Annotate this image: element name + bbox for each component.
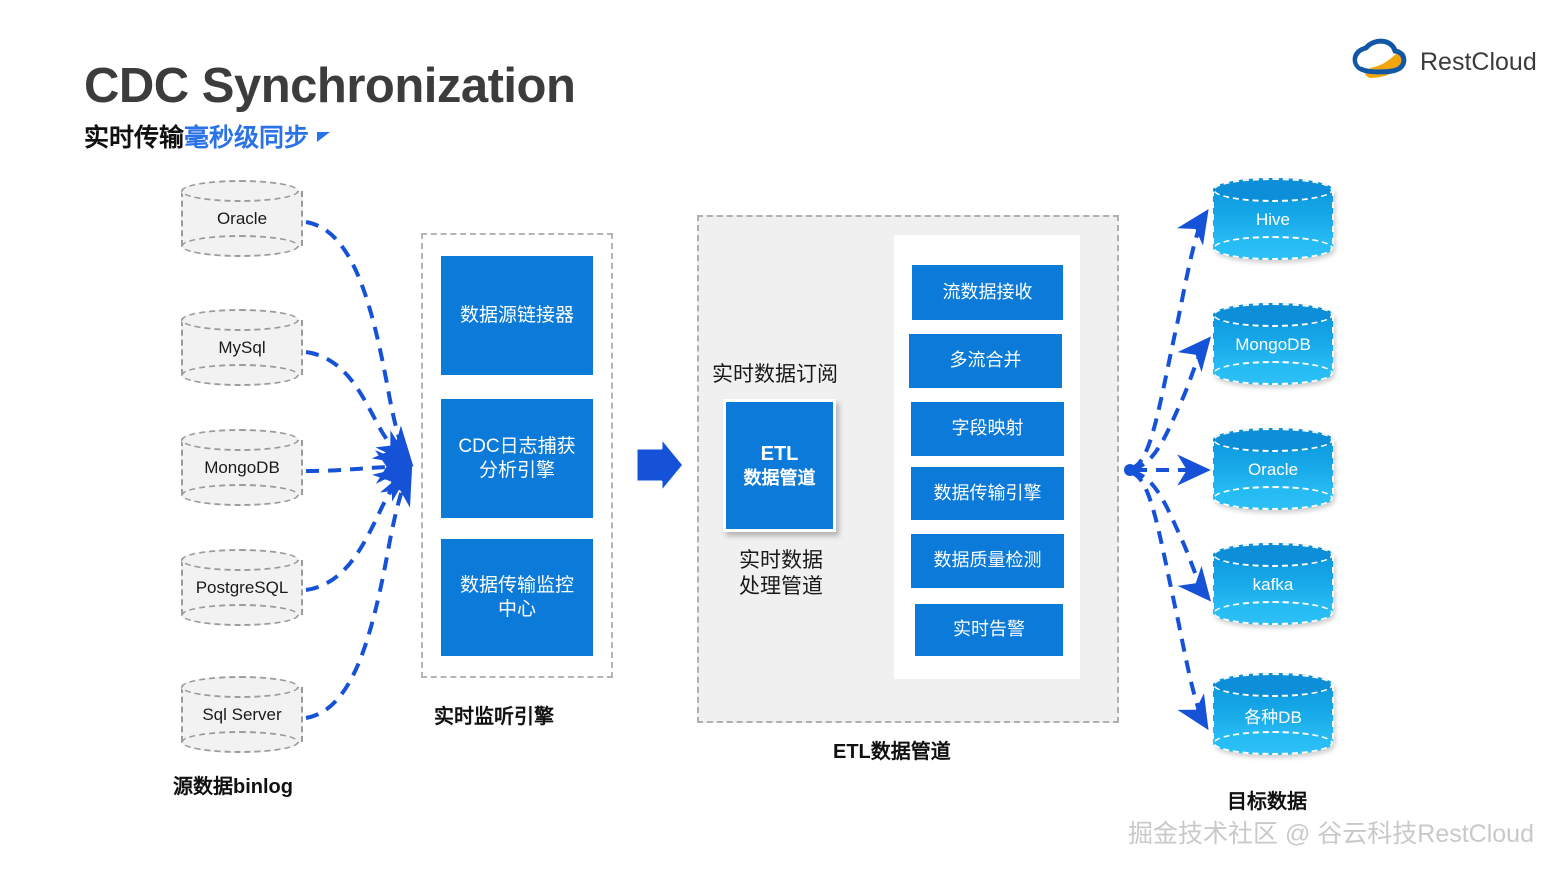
targets-caption: 目标数据 xyxy=(1227,785,1307,814)
subtitle-black-part: 实时传输 xyxy=(84,124,184,152)
etl-core-line2: 数据管道 xyxy=(744,467,816,490)
cylinder-bottom xyxy=(181,235,299,257)
listen-engine-caption: 实时监听引擎 xyxy=(434,700,554,729)
source-db-label: Sql Server xyxy=(181,698,303,732)
pipeline-step-box[interactable]: 多流合并 xyxy=(909,334,1062,388)
cylinder-top xyxy=(1213,428,1333,452)
pipeline-step-box[interactable]: 字段映射 xyxy=(911,402,1064,456)
cylinder-top xyxy=(181,309,299,331)
etl-core-box[interactable]: ETL 数据管道 xyxy=(723,399,836,532)
page-title: CDC Synchronization xyxy=(84,62,575,111)
cylinder-bottom xyxy=(181,364,299,386)
cylinder-top xyxy=(1213,178,1333,202)
pipeline-step-box[interactable]: 实时告警 xyxy=(915,604,1063,656)
cylinder-bottom xyxy=(181,604,299,626)
target-db-label: Oracle xyxy=(1213,452,1333,488)
listen-engine-box[interactable]: CDC日志捕获 分析引擎 xyxy=(441,399,593,518)
page-subtitle: 实时传输毫秒级同步 xyxy=(84,126,330,151)
sources-caption: 源数据binlog xyxy=(173,770,293,799)
target-db-cylinder[interactable]: MongoDB xyxy=(1213,303,1337,389)
cylinder-bottom xyxy=(1213,361,1333,385)
cylinder-bottom xyxy=(1213,601,1333,625)
target-db-label: Hive xyxy=(1213,202,1333,238)
target-db-cylinder[interactable]: Oracle xyxy=(1213,428,1337,514)
target-db-cylinder[interactable]: Hive xyxy=(1213,178,1337,264)
source-db-cylinder[interactable]: Oracle xyxy=(181,180,305,262)
watermark-text: 掘金技术社区 @ 谷云科技RestCloud xyxy=(1128,814,1534,850)
realtime-subscribe-label: 实时数据订阅 xyxy=(712,362,838,388)
diagram-canvas: CDC Synchronization 实时传输毫秒级同步 RestCloud xyxy=(0,0,1566,870)
source-db-label: MySql xyxy=(181,331,303,365)
target-db-label: kafka xyxy=(1213,567,1333,603)
source-db-cylinder[interactable]: MySql xyxy=(181,309,305,391)
listen-engine-box[interactable]: 数据传输监控 中心 xyxy=(441,539,593,656)
cylinder-bottom xyxy=(1213,731,1333,755)
cylinder-top xyxy=(181,180,299,202)
cylinder-bottom xyxy=(1213,486,1333,510)
pipeline-step-box[interactable]: 数据质量检测 xyxy=(911,534,1064,588)
cylinder-top xyxy=(181,429,299,451)
target-db-label: MongoDB xyxy=(1213,327,1333,363)
cloud-logo-icon xyxy=(1348,34,1418,86)
subtitle-blue-part: 毫秒级同步 xyxy=(184,124,309,152)
etl-core-line1: ETL xyxy=(761,441,799,467)
pipeline-step-box[interactable]: 数据传输引擎 xyxy=(911,467,1064,520)
brand-name: RestCloud xyxy=(1420,48,1537,77)
cylinder-bottom xyxy=(1213,236,1333,260)
listen-engine-box[interactable]: 数据源链接器 xyxy=(441,256,593,375)
source-db-cylinder[interactable]: MongoDB xyxy=(181,429,305,511)
cylinder-top xyxy=(1213,303,1333,327)
cylinder-top xyxy=(181,676,299,698)
cylinder-bottom xyxy=(181,484,299,506)
target-db-cylinder[interactable]: 各种DB xyxy=(1213,673,1337,759)
source-db-cylinder[interactable]: Sql Server xyxy=(181,676,305,758)
target-db-label: 各种DB xyxy=(1213,697,1333,733)
source-db-label: PostgreSQL xyxy=(181,571,303,605)
source-db-cylinder[interactable]: PostgreSQL xyxy=(181,549,305,631)
cylinder-top xyxy=(181,549,299,571)
fan-out-node xyxy=(1124,464,1136,476)
source-db-label: Oracle xyxy=(181,202,303,236)
cylinder-bottom xyxy=(181,731,299,753)
cylinder-top xyxy=(1213,543,1333,567)
cylinder-top xyxy=(1213,673,1333,697)
source-db-label: MongoDB xyxy=(181,451,303,485)
pipeline-step-box[interactable]: 流数据接收 xyxy=(912,265,1063,320)
target-db-cylinder[interactable]: kafka xyxy=(1213,543,1337,629)
etl-caption: ETL数据管道 xyxy=(833,735,951,764)
triangle-right-icon xyxy=(317,132,330,142)
block-arrow-to-etl xyxy=(636,437,684,493)
etl-core-caption: 实时数据 处理管道 xyxy=(722,548,840,601)
brand-logo: RestCloud xyxy=(1348,34,1548,92)
